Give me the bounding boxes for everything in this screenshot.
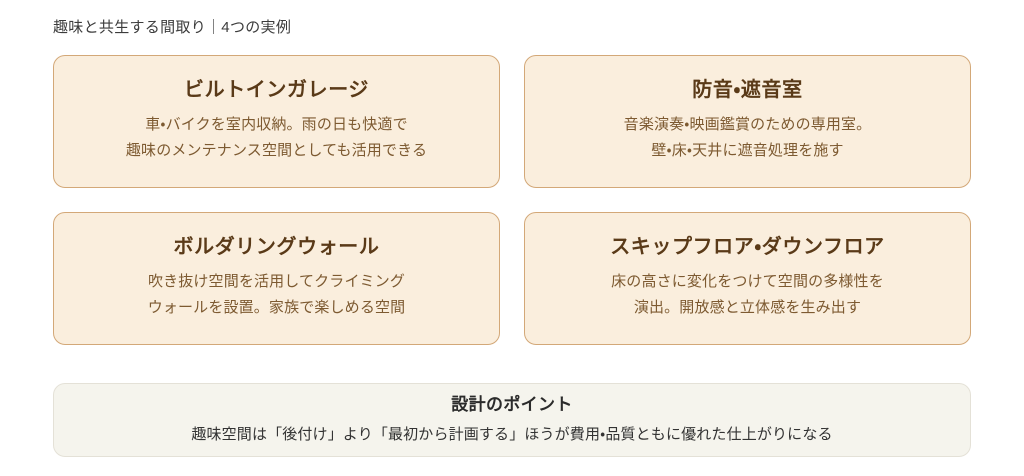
note-title: 設計のポイント: [451, 393, 572, 417]
hobby-floorplan-infographic: 趣味と共生する間取り｜4つの実例 ビルトインガレージ 車・バイクを室内収納。雨の…: [0, 0, 1024, 476]
card-body-line: 演出。開放感と立体感を生み出す: [611, 295, 884, 321]
card-body-line: ウォールを設置。家族で楽しめる空間: [148, 295, 406, 321]
card-title: ボルダリングウォール: [174, 234, 380, 260]
card-body: 音楽演奏・映画鑑賞のための専用室。 壁・床・天井に遮音処理を施す: [624, 112, 872, 165]
card-body: 床の高さに変化をつけて空間の多様性を 演出。開放感と立体感を生み出す: [611, 269, 884, 322]
example-card-builtin-garage: ビルトインガレージ 車・バイクを室内収納。雨の日も快適で 趣味のメンテナンス空間…: [53, 55, 500, 188]
card-body: 吹き抜け空間を活用してクライミング ウォールを設置。家族で楽しめる空間: [148, 269, 406, 322]
card-body-line: 音楽演奏・映画鑑賞のための専用室。: [624, 112, 872, 138]
card-body-line: 車・バイクを室内収納。雨の日も快適で: [126, 112, 427, 138]
card-body-line: 床の高さに変化をつけて空間の多様性を: [611, 269, 884, 295]
design-point-note: 設計のポイント 趣味空間は「後付け」より「最初から計画する」ほうが費用・品質とも…: [53, 383, 971, 457]
card-body-line: 吹き抜け空間を活用してクライミング: [148, 269, 406, 295]
example-card-grid: ビルトインガレージ 車・バイクを室内収納。雨の日も快適で 趣味のメンテナンス空間…: [53, 55, 971, 345]
card-body-line: 趣味のメンテナンス空間としても活用できる: [126, 138, 427, 164]
example-card-bouldering-wall: ボルダリングウォール 吹き抜け空間を活用してクライミング ウォールを設置。家族で…: [53, 212, 500, 345]
card-body: 車・バイクを室内収納。雨の日も快適で 趣味のメンテナンス空間としても活用できる: [126, 112, 427, 165]
card-title: ビルトインガレージ: [184, 77, 369, 103]
example-card-skip-floor: スキップフロア・ダウンフロア 床の高さに変化をつけて空間の多様性を 演出。開放感…: [524, 212, 971, 345]
card-title: スキップフロア・ダウンフロア: [610, 234, 885, 260]
card-title: 防音・遮音室: [692, 77, 802, 103]
section-heading: 趣味と共生する間取り｜4つの実例: [53, 17, 291, 39]
note-body: 趣味空間は「後付け」より「最初から計画する」ほうが費用・品質ともに優れた仕上がり…: [191, 423, 832, 447]
example-card-soundproof-room: 防音・遮音室 音楽演奏・映画鑑賞のための専用室。 壁・床・天井に遮音処理を施す: [524, 55, 971, 188]
card-body-line: 壁・床・天井に遮音処理を施す: [624, 138, 872, 164]
